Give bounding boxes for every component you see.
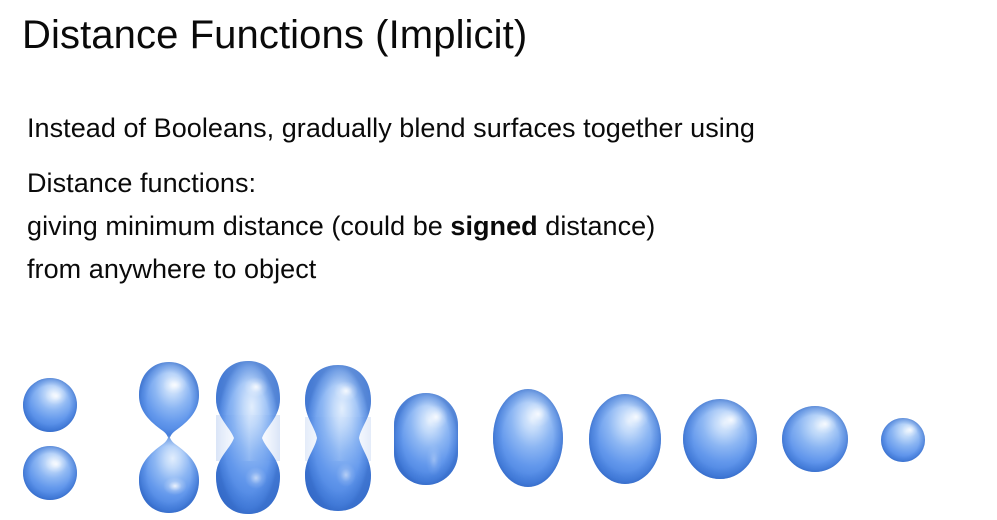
distance-functions-label: Distance functions: (27, 170, 977, 197)
blend-shape-10 (881, 418, 925, 462)
slide-canvas: Distance Functions (Implicit) Instead of… (0, 0, 997, 520)
blend-shape-3 (216, 361, 280, 514)
signed-distance-line-prefix: giving minimum distance (could be (27, 211, 450, 241)
signed-distance-line: giving minimum distance (could be signed… (27, 213, 977, 240)
blend-shape-1 (23, 378, 77, 500)
blend-shape-8 (683, 399, 757, 479)
slide-body: Instead of Booleans, gradually blend sur… (27, 115, 977, 283)
from-anywhere-line: from anywhere to object (27, 256, 977, 283)
lead-paragraph: Instead of Booleans, gradually blend sur… (27, 115, 977, 142)
blend-shape-6 (493, 389, 563, 487)
blend-sequence-figure (0, 355, 997, 520)
blend-shape-7 (589, 394, 661, 484)
page-title: Distance Functions (Implicit) (22, 12, 527, 58)
blend-shape-5 (394, 393, 458, 485)
signed-distance-line-suffix: distance) (538, 211, 656, 241)
signed-emphasis: signed (450, 211, 537, 241)
blend-shape-4 (305, 365, 371, 511)
blend-shape-9 (782, 406, 848, 472)
blend-shape-2 (139, 362, 199, 513)
